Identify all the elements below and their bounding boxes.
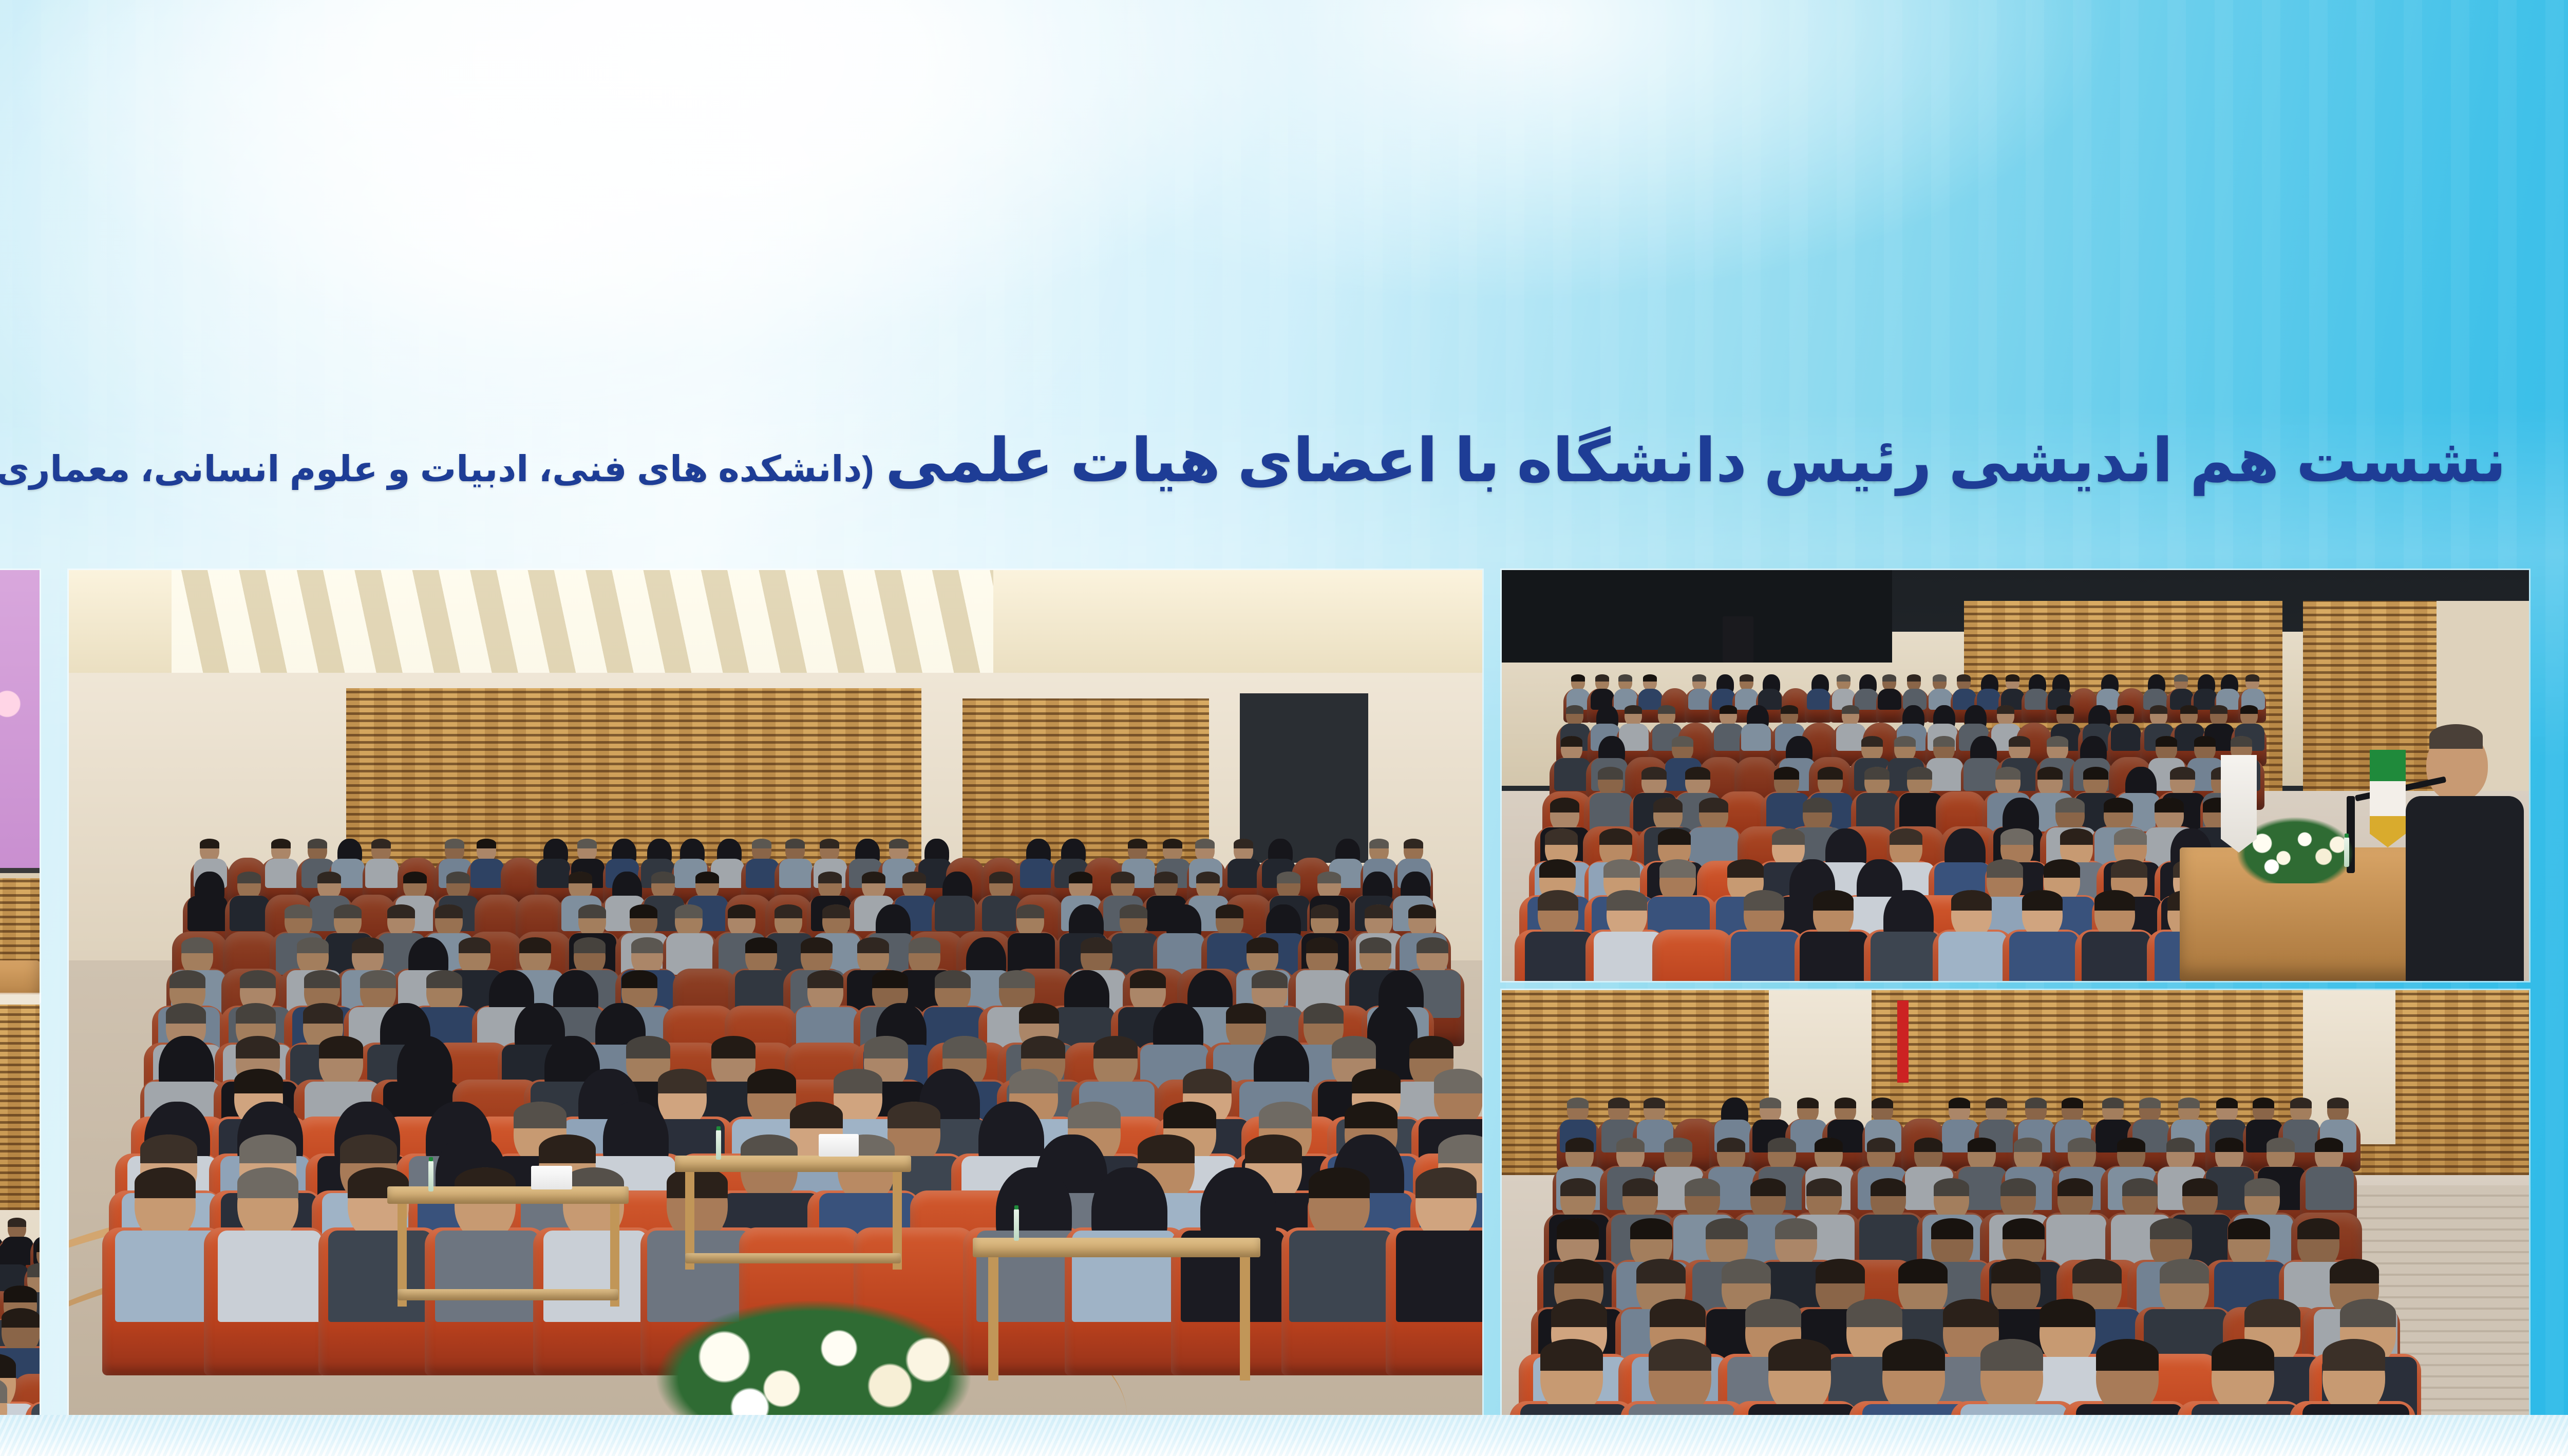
photo-bottom-left (0, 994, 40, 1446)
banner-title-row: نشست هم اندیشی رئیس دانشگاه با اعضای هیا… (0, 430, 2506, 491)
photo-bottom-right (1502, 990, 2529, 1446)
photo-center (69, 570, 1482, 1446)
photo-top-right (1502, 570, 2529, 981)
event-banner: دانشگاه گیلان روابط عمومی دانشگاه گیلان … (0, 0, 2568, 1456)
page-title: نشست هم اندیشی رئیس دانشگاه با اعضای هیا… (885, 430, 2506, 491)
photo-top-left (0, 570, 40, 1001)
photo-mosaic (0, 555, 2568, 1456)
footer-texture (0, 1415, 2568, 1456)
page-subtitle: (دانشکده های فنی، ادبیات و علوم انسانی، … (0, 451, 874, 487)
banner-header: دانشگاه گیلان روابط عمومی دانشگاه گیلان … (0, 0, 2568, 555)
